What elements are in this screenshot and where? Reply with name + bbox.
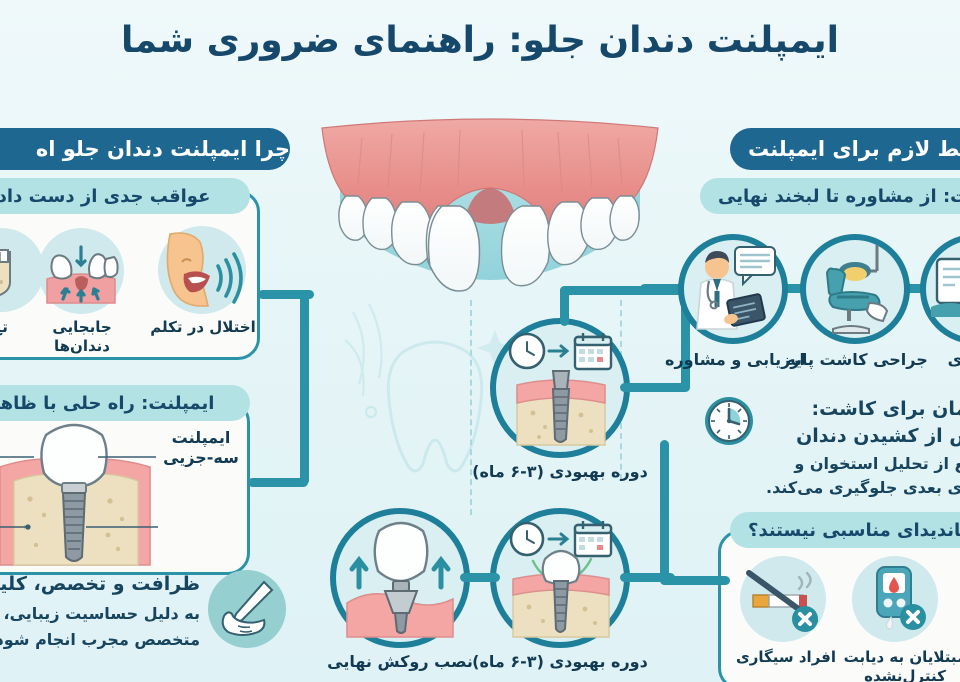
expertise-heading: ظرافت و تخصص، کلید موف (0, 570, 200, 599)
pipe-left-vertical (300, 290, 309, 485)
infographic-canvas: ایمپلنت دندان جلو: راهنمای ضروری شما (0, 0, 960, 682)
expertise-body-line2: متخصص مجرب انجام شود. (0, 628, 200, 652)
timing-line1: ماه پس از کشیدن دندان (760, 422, 960, 451)
implant-cross-section-diagram (0, 415, 160, 570)
contraindication-label-0: افراد سیگاری (728, 648, 844, 667)
timing-line3: یدگی‌های بعدی جلوگیری می‌کند. (740, 476, 960, 500)
partial-step-icon (920, 234, 960, 344)
doctor-consultation-icon (678, 234, 788, 344)
left-section-header: چرا ایمپلنت دندان جلو اه (0, 128, 290, 170)
pipe-solution-to-center (248, 478, 308, 487)
teeth-shifting-icon (38, 228, 124, 314)
final-crown-placement-icon (330, 508, 470, 648)
clock-icon (700, 392, 758, 450)
flow-stage-label-1: دوره بهبودی (۳-۶ ماه) (470, 652, 650, 672)
flow-stage-label-2: نصب روکش نهایی (315, 652, 485, 672)
expertise-body-line1: به دلیل حساسیت زیبایی، این ک (0, 602, 200, 626)
timing-line2: ام سریع از تحلیل استخوان و (740, 452, 960, 476)
pipe-crown-to-healing (460, 573, 500, 582)
contraindication-label-1: مبتلایان به دیابت کنترل‌نشده (840, 648, 960, 682)
journey-step-label-2: ی (900, 350, 960, 370)
timing-heading: رین زمان برای کاشت: (760, 395, 960, 424)
page-title: ایمپلنت دندان جلو: راهنمای ضروری شما (0, 18, 960, 63)
glucometer-icon (852, 556, 938, 642)
divider-dashed-left (470, 300, 472, 515)
consequences-header: عواقب جدی از دست دادن دند (0, 178, 250, 214)
no-smoking-icon (740, 556, 826, 642)
speech-difficulty-icon (158, 226, 246, 314)
consequence-label-2: اختلال در تکلم (148, 318, 258, 337)
hand-writing-icon (208, 570, 286, 648)
pipe-contraindications-horizontal (660, 576, 730, 585)
contraindications-header: ی کاندیدای مناسبی نیستند؟ (730, 512, 960, 548)
pipe-stage1-to-right (620, 383, 690, 392)
flow-stage-label-0: دوره بهبودی (۳-۶ ماه) (470, 462, 650, 482)
dental-chair-icon (800, 234, 910, 344)
consequence-label-1: جابجایی دندان‌ها (22, 318, 142, 356)
pipe-contraindications-vertical (660, 440, 669, 585)
journey-header: ی کاشت: از مشاوره تا لبخند نهایی (700, 178, 960, 214)
healing-crown-clock-calendar-icon (490, 508, 630, 648)
right-section-header: رایط لازم برای ایمپلنت (730, 128, 960, 170)
healing-implant-clock-calendar-icon (490, 318, 630, 458)
implant-part-label-0: ایمپلنت سه-جزیی (158, 428, 244, 468)
